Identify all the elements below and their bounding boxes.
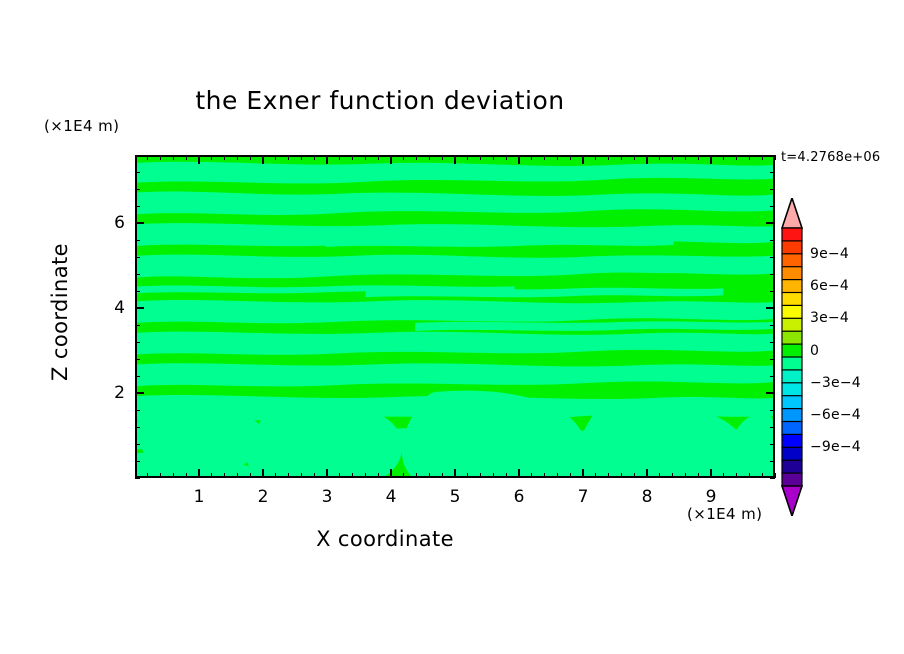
y-major-tick	[766, 307, 775, 309]
x-axis-title: X coordinate	[0, 527, 770, 551]
x-minor-tick	[736, 473, 737, 478]
x-minor-tick	[531, 155, 532, 160]
x-major-tick	[326, 469, 328, 478]
y-minor-tick	[770, 155, 775, 156]
x-minor-tick	[442, 473, 443, 478]
x-minor-tick	[621, 473, 622, 478]
x-minor-tick	[557, 155, 558, 160]
x-minor-tick	[416, 473, 417, 478]
x-tick-label: 5	[450, 487, 461, 507]
x-minor-tick	[339, 155, 340, 160]
y-tick-label: 6	[89, 213, 125, 233]
y-minor-tick	[135, 342, 140, 343]
x-minor-tick	[775, 155, 776, 160]
y-minor-tick	[135, 206, 140, 207]
y-minor-tick	[770, 291, 775, 292]
x-minor-tick	[173, 473, 174, 478]
x-minor-tick	[237, 473, 238, 478]
colorbar-tick-label: −9e−4	[810, 439, 861, 455]
x-minor-tick	[467, 473, 468, 478]
x-tick-label: 9	[706, 487, 717, 507]
x-tick-label: 4	[386, 487, 397, 507]
y-minor-tick	[135, 461, 140, 462]
y-minor-tick	[770, 359, 775, 360]
x-major-tick	[262, 469, 264, 478]
x-minor-tick	[301, 473, 302, 478]
page-title: the Exner function deviation	[0, 86, 760, 115]
x-minor-tick	[250, 155, 251, 160]
x-minor-tick	[186, 473, 187, 478]
x-major-tick	[390, 155, 392, 164]
x-minor-tick	[595, 155, 596, 160]
colorbar	[781, 198, 803, 516]
x-minor-tick	[659, 155, 660, 160]
x-minor-tick	[403, 473, 404, 478]
y-minor-tick	[770, 427, 775, 428]
colorbar-tick-label: −6e−4	[810, 407, 861, 423]
x-minor-tick	[506, 473, 507, 478]
x-minor-tick	[275, 473, 276, 478]
contour-plot-area	[135, 155, 775, 478]
x-minor-tick	[493, 155, 494, 160]
y-minor-tick	[770, 325, 775, 326]
x-minor-tick	[173, 155, 174, 160]
x-minor-tick	[288, 473, 289, 478]
x-minor-tick	[224, 473, 225, 478]
x-minor-tick	[275, 155, 276, 160]
x-minor-tick	[493, 473, 494, 478]
y-minor-tick	[770, 342, 775, 343]
x-minor-tick	[250, 473, 251, 478]
x-minor-tick	[749, 155, 750, 160]
x-minor-tick	[762, 155, 763, 160]
y-minor-tick	[770, 189, 775, 190]
x-minor-tick	[544, 155, 545, 160]
y-tick-label: 2	[89, 383, 125, 403]
x-tick-label: 1	[194, 487, 205, 507]
x-minor-tick	[698, 155, 699, 160]
x-major-tick	[454, 469, 456, 478]
x-minor-tick	[224, 155, 225, 160]
x-minor-tick	[608, 473, 609, 478]
x-minor-tick	[339, 473, 340, 478]
y-minor-tick	[770, 172, 775, 173]
x-minor-tick	[480, 155, 481, 160]
colorbar-tick-label: 3e−4	[810, 310, 849, 326]
x-major-tick	[198, 155, 200, 164]
x-minor-tick	[595, 473, 596, 478]
x-minor-tick	[314, 473, 315, 478]
y-minor-tick	[770, 274, 775, 275]
x-minor-tick	[365, 473, 366, 478]
y-minor-tick	[135, 155, 140, 156]
x-major-tick	[390, 469, 392, 478]
x-tick-label: 6	[514, 487, 525, 507]
x-minor-tick	[160, 473, 161, 478]
x-minor-tick	[147, 473, 148, 478]
x-major-tick	[582, 469, 584, 478]
y-minor-tick	[135, 359, 140, 360]
x-minor-tick	[237, 155, 238, 160]
x-major-tick	[326, 155, 328, 164]
y-axis-title: Z coordinate	[48, 212, 72, 412]
x-minor-tick	[736, 155, 737, 160]
x-minor-tick	[608, 155, 609, 160]
y-minor-tick	[770, 461, 775, 462]
x-minor-tick	[314, 155, 315, 160]
x-minor-tick	[429, 473, 430, 478]
x-tick-label: 3	[322, 487, 333, 507]
y-minor-tick	[135, 189, 140, 190]
x-minor-tick	[378, 155, 379, 160]
timestamp-label: t=4.2768e+06	[781, 150, 880, 165]
colorbar-tick-label: 0	[810, 343, 819, 359]
y-minor-tick	[135, 291, 140, 292]
y-minor-tick	[135, 410, 140, 411]
x-minor-tick	[416, 155, 417, 160]
x-minor-tick	[570, 473, 571, 478]
colorbar-gradient	[781, 198, 803, 516]
x-minor-tick	[147, 155, 148, 160]
y-minor-tick	[135, 478, 140, 479]
x-minor-tick	[186, 155, 187, 160]
y-minor-tick	[770, 240, 775, 241]
y-major-tick	[135, 222, 144, 224]
x-minor-tick	[544, 473, 545, 478]
y-minor-tick	[770, 410, 775, 411]
x-minor-tick	[685, 473, 686, 478]
y-minor-tick	[135, 274, 140, 275]
y-major-tick	[766, 392, 775, 394]
x-minor-tick	[621, 155, 622, 160]
y-minor-tick	[770, 376, 775, 377]
x-minor-tick	[570, 155, 571, 160]
x-minor-tick	[749, 473, 750, 478]
x-minor-tick	[634, 155, 635, 160]
x-major-tick	[646, 469, 648, 478]
x-minor-tick	[211, 155, 212, 160]
x-minor-tick	[365, 155, 366, 160]
y-major-tick	[766, 222, 775, 224]
x-major-tick	[518, 469, 520, 478]
x-major-tick	[454, 155, 456, 164]
x-minor-tick	[211, 473, 212, 478]
x-minor-tick	[672, 473, 673, 478]
y-minor-tick	[135, 257, 140, 258]
x-tick-label: 8	[642, 487, 653, 507]
x-minor-tick	[762, 473, 763, 478]
x-minor-tick	[467, 155, 468, 160]
y-minor-tick	[135, 172, 140, 173]
x-minor-tick	[506, 155, 507, 160]
y-minor-tick	[135, 325, 140, 326]
x-major-tick	[518, 155, 520, 164]
x-minor-tick	[557, 473, 558, 478]
x-minor-tick	[659, 473, 660, 478]
x-minor-tick	[378, 473, 379, 478]
x-minor-tick	[135, 155, 136, 160]
x-minor-tick	[288, 155, 289, 160]
x-minor-tick	[352, 473, 353, 478]
y-major-tick	[135, 392, 144, 394]
y-minor-tick	[135, 427, 140, 428]
y-minor-tick	[770, 257, 775, 258]
y-minor-tick	[135, 240, 140, 241]
x-minor-tick	[685, 155, 686, 160]
x-minor-tick	[301, 155, 302, 160]
y-tick-label: 4	[89, 298, 125, 318]
x-major-tick	[198, 469, 200, 478]
x-minor-tick	[403, 155, 404, 160]
x-major-tick	[262, 155, 264, 164]
y-minor-tick	[770, 478, 775, 479]
x-minor-tick	[429, 155, 430, 160]
x-minor-tick	[723, 155, 724, 160]
x-minor-tick	[698, 473, 699, 478]
x-major-tick	[710, 469, 712, 478]
x-minor-tick	[160, 155, 161, 160]
contour-field	[137, 157, 773, 476]
colorbar-tick-label: 9e−4	[810, 246, 849, 262]
x-minor-tick	[634, 473, 635, 478]
y-minor-tick	[770, 444, 775, 445]
horizontal-axis-unit-label: (×1E4 m)	[687, 505, 762, 523]
y-major-tick	[135, 307, 144, 309]
x-tick-label: 2	[258, 487, 269, 507]
x-minor-tick	[352, 155, 353, 160]
x-minor-tick	[723, 473, 724, 478]
x-minor-tick	[672, 155, 673, 160]
x-minor-tick	[442, 155, 443, 160]
colorbar-tick-label: 6e−4	[810, 278, 849, 294]
x-major-tick	[646, 155, 648, 164]
y-minor-tick	[135, 444, 140, 445]
x-tick-label: 7	[578, 487, 589, 507]
y-minor-tick	[770, 206, 775, 207]
x-minor-tick	[480, 473, 481, 478]
colorbar-tick-label: −3e−4	[810, 375, 861, 391]
x-major-tick	[710, 155, 712, 164]
y-minor-tick	[135, 376, 140, 377]
vertical-axis-unit-label: (×1E4 m)	[44, 117, 119, 135]
x-minor-tick	[531, 473, 532, 478]
x-major-tick	[582, 155, 584, 164]
